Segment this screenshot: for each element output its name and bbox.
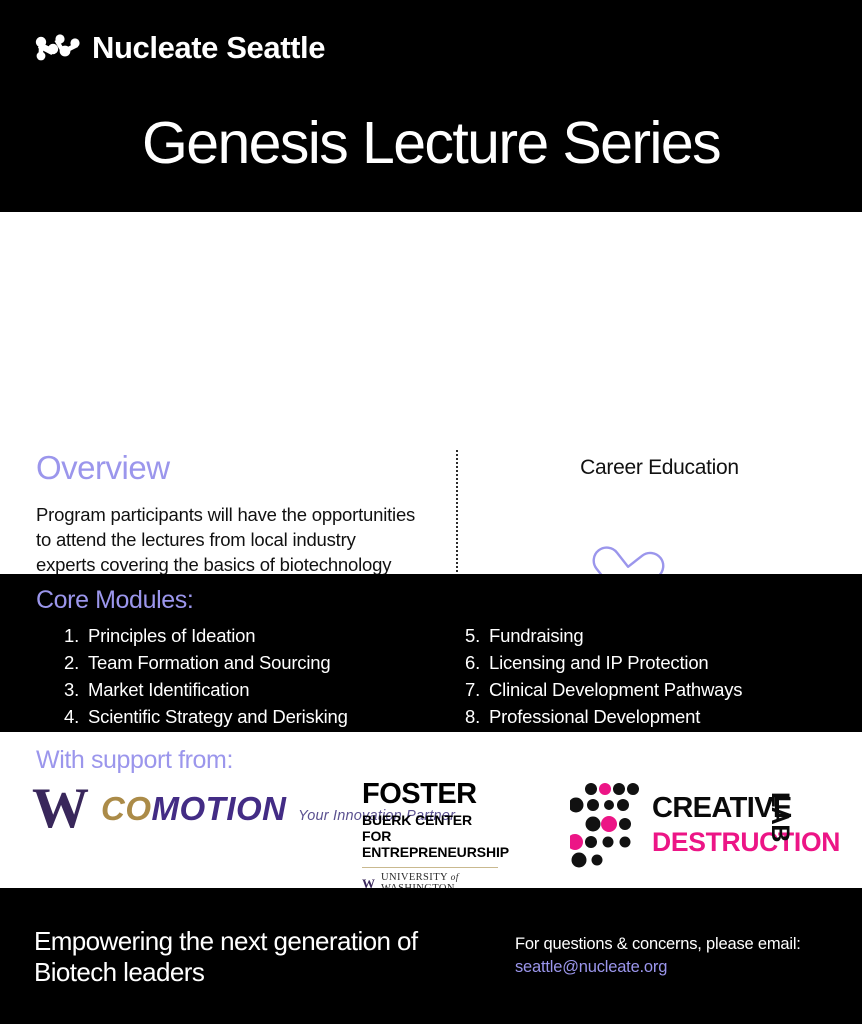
overview-heading: Overview — [36, 450, 170, 486]
poster-root: Nucleate Seattle Genesis Lecture Series … — [0, 0, 862, 1024]
sponsors-heading: With support from: — [36, 746, 233, 775]
module-item: Licensing and IP Protection — [485, 649, 862, 676]
footer-tagline: Empowering the next generation of Biotec… — [34, 926, 484, 988]
foster-subtitle-line2: ENTREPRENEURSHIP — [362, 845, 502, 861]
module-item: Professional Development — [485, 703, 862, 730]
foster-word: FOSTER — [362, 780, 502, 809]
overview-band: Overview Program participants will have … — [0, 212, 862, 574]
header-band: Nucleate Seattle Genesis Lecture Series — [0, 0, 862, 212]
cdl-word-destruction: DESTRUCTION — [652, 829, 840, 856]
foster-logo: FOSTER BUERK CENTER FOR ENTREPRENEURSHIP… — [362, 780, 502, 894]
modules-columns: Principles of Ideation Team Formation an… — [0, 622, 862, 730]
module-item: Market Identification — [84, 676, 431, 703]
page-title: Genesis Lecture Series — [0, 113, 862, 175]
module-item: Clinical Development Pathways — [485, 676, 862, 703]
nucleate-molecule-icon — [34, 33, 80, 63]
foster-uw-text-of: of — [451, 873, 459, 883]
brand-name: Nucleate Seattle — [92, 32, 325, 63]
footer-contact-email-link[interactable]: seattle@nucleate.org — [515, 956, 845, 979]
foster-uw-text-a: UNIVERSITY — [381, 872, 451, 883]
modules-column-right: Fundraising Licensing and IP Protection … — [431, 622, 862, 730]
cdl-wordmark: CREATIVE DESTRUCTION — [652, 794, 840, 856]
uw-w-mark-icon: W — [32, 786, 87, 833]
cdl-word-lab: LAB — [767, 792, 792, 842]
module-item: Team Formation and Sourcing — [84, 649, 431, 676]
foster-rule — [362, 867, 498, 869]
comotion-word-first: CO — [101, 790, 152, 827]
comotion-word: COMOTION — [101, 790, 296, 827]
modules-column-left: Principles of Ideation Team Formation an… — [0, 622, 431, 730]
creative-destruction-lab-logo: CREATIVE DESTRUCTION LAB — [570, 782, 832, 870]
sponsors-band: With support from: W COMOTION Your Innov… — [0, 732, 862, 888]
comotion-word-second: MOTION — [152, 790, 287, 827]
foster-subtitle: BUERK CENTER FOR ENTREPRENEURSHIP — [362, 813, 502, 861]
footer-contact-label: For questions & concerns, please email: — [515, 933, 845, 956]
module-item: Principles of Ideation — [84, 622, 431, 649]
module-item: Scientific Strategy and Derisking — [84, 703, 431, 730]
foster-subtitle-line1: BUERK CENTER FOR — [362, 813, 502, 845]
footer-contact: For questions & concerns, please email: … — [515, 933, 845, 979]
brand-lockup: Nucleate Seattle — [34, 32, 325, 63]
modules-band: Core Modules: Principles of Ideation Tea… — [0, 574, 862, 732]
feature-caption-top: Career Education — [457, 456, 862, 480]
modules-heading: Core Modules: — [36, 586, 193, 615]
module-item: Fundraising — [485, 622, 862, 649]
cdl-dot-matrix-icon — [570, 782, 650, 875]
